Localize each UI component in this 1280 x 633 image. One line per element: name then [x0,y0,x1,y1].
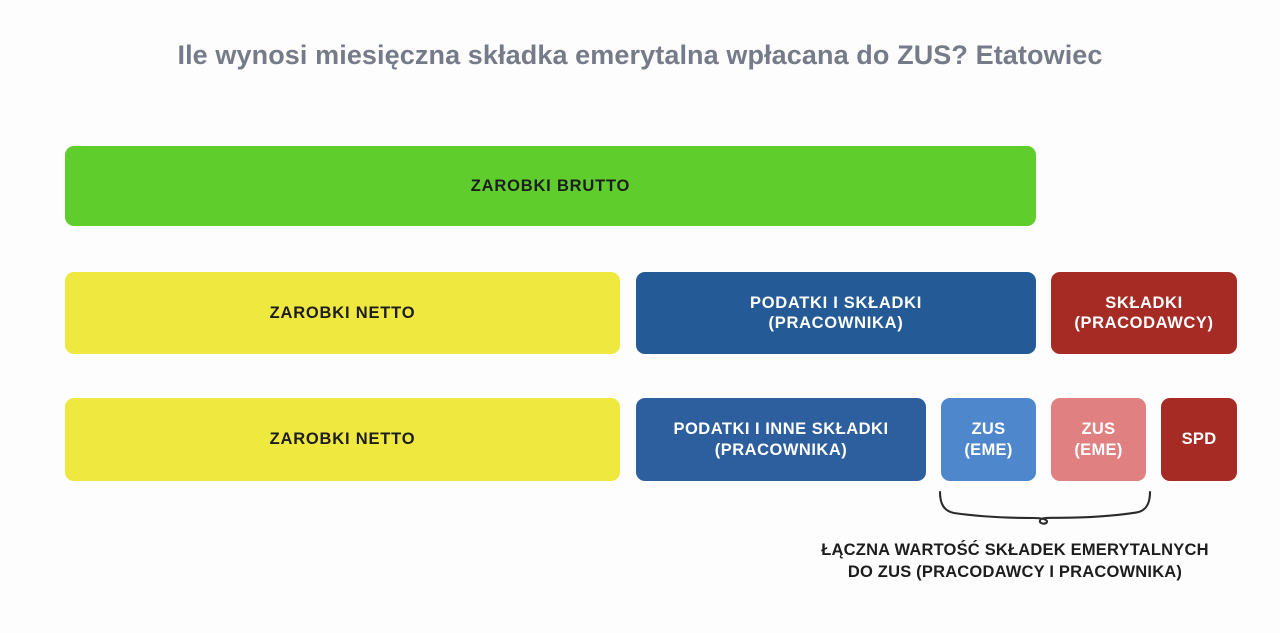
bar-podatki-i-skladki-pracownika-label: PODATKI I SKŁADKI (PRACOWNIKA) [750,293,922,333]
bar-zus-eme-pracodawcy: ZUS (EME) [1051,398,1146,481]
bar-zus-eme-pracodawcy-label: ZUS (EME) [1074,419,1122,459]
bar-skladki-pracodawcy-label: SKŁADKI (PRACODAWCY) [1074,293,1213,333]
bar-zarobki-netto-row3: ZAROBKI NETTO [65,398,620,481]
bar-zus-eme-pracownika: ZUS (EME) [941,398,1036,481]
bar-skladki-pracodawcy: SKŁADKI (PRACODAWCY) [1051,272,1237,354]
bar-zarobki-brutto: ZAROBKI BRUTTO [65,146,1036,226]
bar-zus-eme-pracownika-label: ZUS (EME) [964,419,1012,459]
bar-zarobki-netto-row3-label: ZAROBKI NETTO [270,429,416,449]
bar-zarobki-netto-row2-label: ZAROBKI NETTO [270,303,416,323]
bar-podatki-i-inne-skladki-pracownika: PODATKI I INNE SKŁADKI (PRACOWNIKA) [636,398,926,481]
bar-podatki-i-skladki-pracownika: PODATKI I SKŁADKI (PRACOWNIKA) [636,272,1036,354]
bar-spd: SPD [1161,398,1237,481]
bar-zarobki-brutto-label: ZAROBKI BRUTTO [471,176,630,196]
curly-brace-icon [930,486,1162,526]
brace-caption: ŁĄCZNA WARTOŚĆ SKŁADEK EMERYTALNYCH DO Z… [760,540,1270,584]
diagram-canvas: Ile wynosi miesięczna składka emerytalna… [0,0,1280,633]
bar-spd-label: SPD [1182,429,1217,449]
bar-podatki-i-inne-skladki-pracownika-label: PODATKI I INNE SKŁADKI (PRACOWNIKA) [673,419,888,459]
page-title: Ile wynosi miesięczna składka emerytalna… [0,40,1280,71]
bar-zarobki-netto-row2: ZAROBKI NETTO [65,272,620,354]
